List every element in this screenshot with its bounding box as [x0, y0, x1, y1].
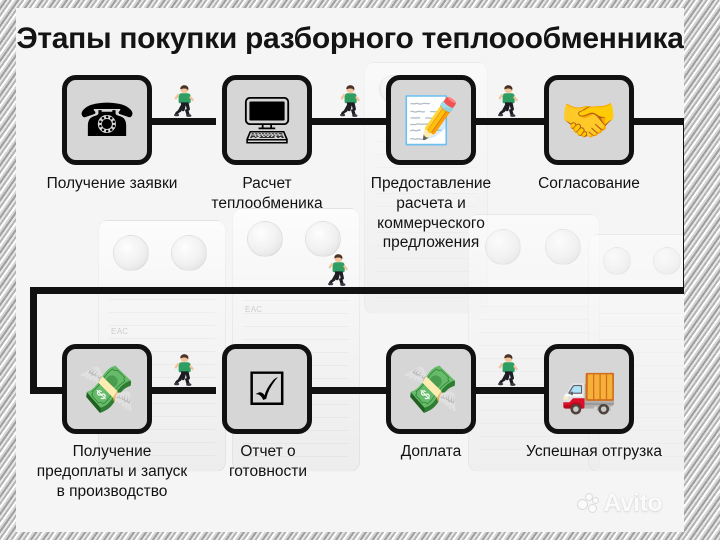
screenshot-root: ЕАС ЕАС Этапы покупки разборного теплооо…	[0, 0, 720, 540]
step-box-raschet-teploobmenika[interactable]: 🖥	[222, 75, 312, 165]
walking-person-icon	[496, 353, 522, 387]
money-icon: 💸	[78, 366, 135, 412]
step-label-soglasovanie: Согласование	[510, 174, 668, 194]
step-box-poluchenie-predoplaty[interactable]: 💸	[62, 344, 152, 434]
checkbox-check-icon: ☑	[246, 366, 287, 412]
connector-step5-step6	[150, 387, 216, 394]
connector-left-down	[30, 287, 37, 394]
truck-icon: 🚚	[560, 366, 617, 412]
avito-wordmark: Avito	[603, 489, 662, 518]
step-label-uspeshnaya-otgruzka: Успешная отгрузка	[502, 442, 684, 462]
handshake-icon: 🤝	[560, 97, 617, 143]
ghost-plate-label: ЕАС	[111, 327, 128, 336]
page-title: Этапы покупки разборного теплоообменника	[16, 22, 684, 56]
ghost-port	[171, 235, 207, 271]
connector-row-return	[30, 287, 684, 294]
walking-person-icon	[172, 353, 198, 387]
connector-right-down	[683, 118, 684, 294]
step-box-uspeshnaya-otgruzka[interactable]: 🚚	[544, 344, 634, 434]
ghost-port	[545, 229, 581, 265]
connector-step4-right	[632, 118, 684, 125]
connector-step3-step4	[474, 118, 548, 125]
ghost-port	[305, 221, 341, 257]
walking-person-icon	[326, 253, 352, 287]
step-label-otchet-o-gotovnosti: Отчет оготовности	[208, 442, 328, 482]
step-label-predostavlenie-rascheta: Предоставлениерасчета икоммерческогопред…	[350, 174, 512, 253]
step-box-soglasovanie[interactable]: 🤝	[544, 75, 634, 165]
walking-person-icon	[172, 84, 198, 118]
avito-dots-logo	[578, 493, 600, 515]
walking-person-icon	[496, 84, 522, 118]
avito-watermark: Avito	[578, 489, 662, 518]
ghost-port	[653, 247, 681, 275]
connector-step2-step3	[310, 118, 390, 125]
step-box-doplata[interactable]: 💸	[386, 344, 476, 434]
step-label-poluchenie-predoplaty: Получениепредоплаты и запускв производст…	[16, 442, 220, 501]
step-label-raschet-teploobmenika: Расчеттеплообменика	[192, 174, 342, 214]
connector-step6-step7	[310, 387, 390, 394]
step-box-predostavlenie-rascheta[interactable]: 📝	[386, 75, 476, 165]
connector-step7-step8	[474, 387, 548, 394]
ghost-port	[603, 247, 631, 275]
monitor-icon: 🖥	[238, 97, 296, 143]
ghost-port	[247, 221, 283, 257]
walking-person-icon	[338, 84, 364, 118]
step-box-poluchenie-zayavki[interactable]: ☎	[62, 75, 152, 165]
content-card: ЕАС ЕАС Этапы покупки разборного теплооо…	[16, 8, 684, 532]
step-label-doplata: Доплата	[362, 442, 500, 462]
memo-pencil-icon: 📝	[402, 97, 459, 143]
connector-step1-step2	[150, 118, 216, 125]
ghost-port	[113, 235, 149, 271]
telephone-icon: ☎	[78, 97, 135, 143]
step-box-otchet-o-gotovnosti[interactable]: ☑	[222, 344, 312, 434]
money-icon: 💸	[402, 366, 459, 412]
ghost-plate-label: ЕАС	[245, 305, 262, 314]
step-label-poluchenie-zayavki: Получение заявки	[16, 174, 218, 194]
